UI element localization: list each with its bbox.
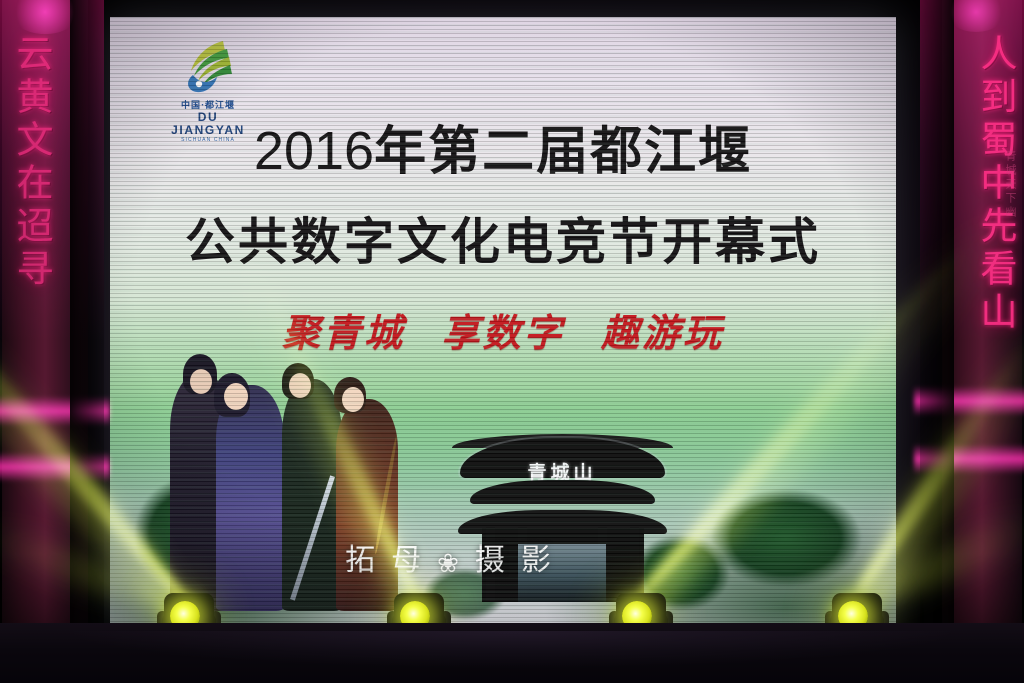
slogan-part-3: 趣游玩: [601, 313, 724, 355]
title-block: 2016年第二届都江堰 公共数字文化电竞节开幕式 聚青城 享数字 趣游玩: [110, 121, 896, 357]
character-figure: [216, 385, 284, 611]
character-head: [190, 369, 212, 394]
pavilion-column: [630, 527, 639, 601]
photo-watermark: 拓母❀摄影: [306, 535, 606, 579]
watermark-right-text: 摄影: [475, 544, 567, 577]
artwork-layer: 青城山: [110, 354, 896, 629]
pillar-right: 人到蜀中先看山 青城天下幽: [920, 0, 1024, 683]
couplet-left-text: 云黄文在迢寻: [4, 34, 52, 292]
title-line-1: 2016年第二届都江堰: [110, 121, 896, 182]
tree-cluster: [686, 473, 886, 603]
title-line-2: 公共数字文化电竞节开幕式: [110, 202, 896, 274]
subtitle-slogan: 聚青城 享数字 趣游玩: [110, 302, 896, 357]
title-line-1-rest: 年第二届都江堰: [374, 124, 752, 181]
led-video-wall: 中国·都江堰 DU JIANGYAN SICHUAN CHINA 2016年第二…: [110, 17, 896, 629]
couplet-right-small-text: 青城天下幽: [1002, 150, 1018, 220]
stage-scene: 中国·都江堰 DU JIANGYAN SICHUAN CHINA 2016年第二…: [0, 0, 1024, 683]
title-year: 2016: [254, 121, 374, 181]
pillar-left: 云黄文在迢寻: [0, 0, 104, 683]
slogan-part-2: 享数字: [441, 313, 564, 355]
logo-mark-icon: [177, 35, 239, 97]
watermark-flower-icon: ❀: [437, 549, 475, 579]
slogan-part-1: 聚青城: [282, 313, 405, 355]
pavilion-eave: [470, 480, 655, 504]
character-head: [224, 383, 248, 410]
character-head: [289, 373, 311, 398]
watermark-left-text: 拓母: [345, 544, 437, 577]
stage-floor-sheen: [0, 631, 1024, 683]
character-head: [342, 387, 364, 412]
character-figure: [336, 399, 398, 611]
